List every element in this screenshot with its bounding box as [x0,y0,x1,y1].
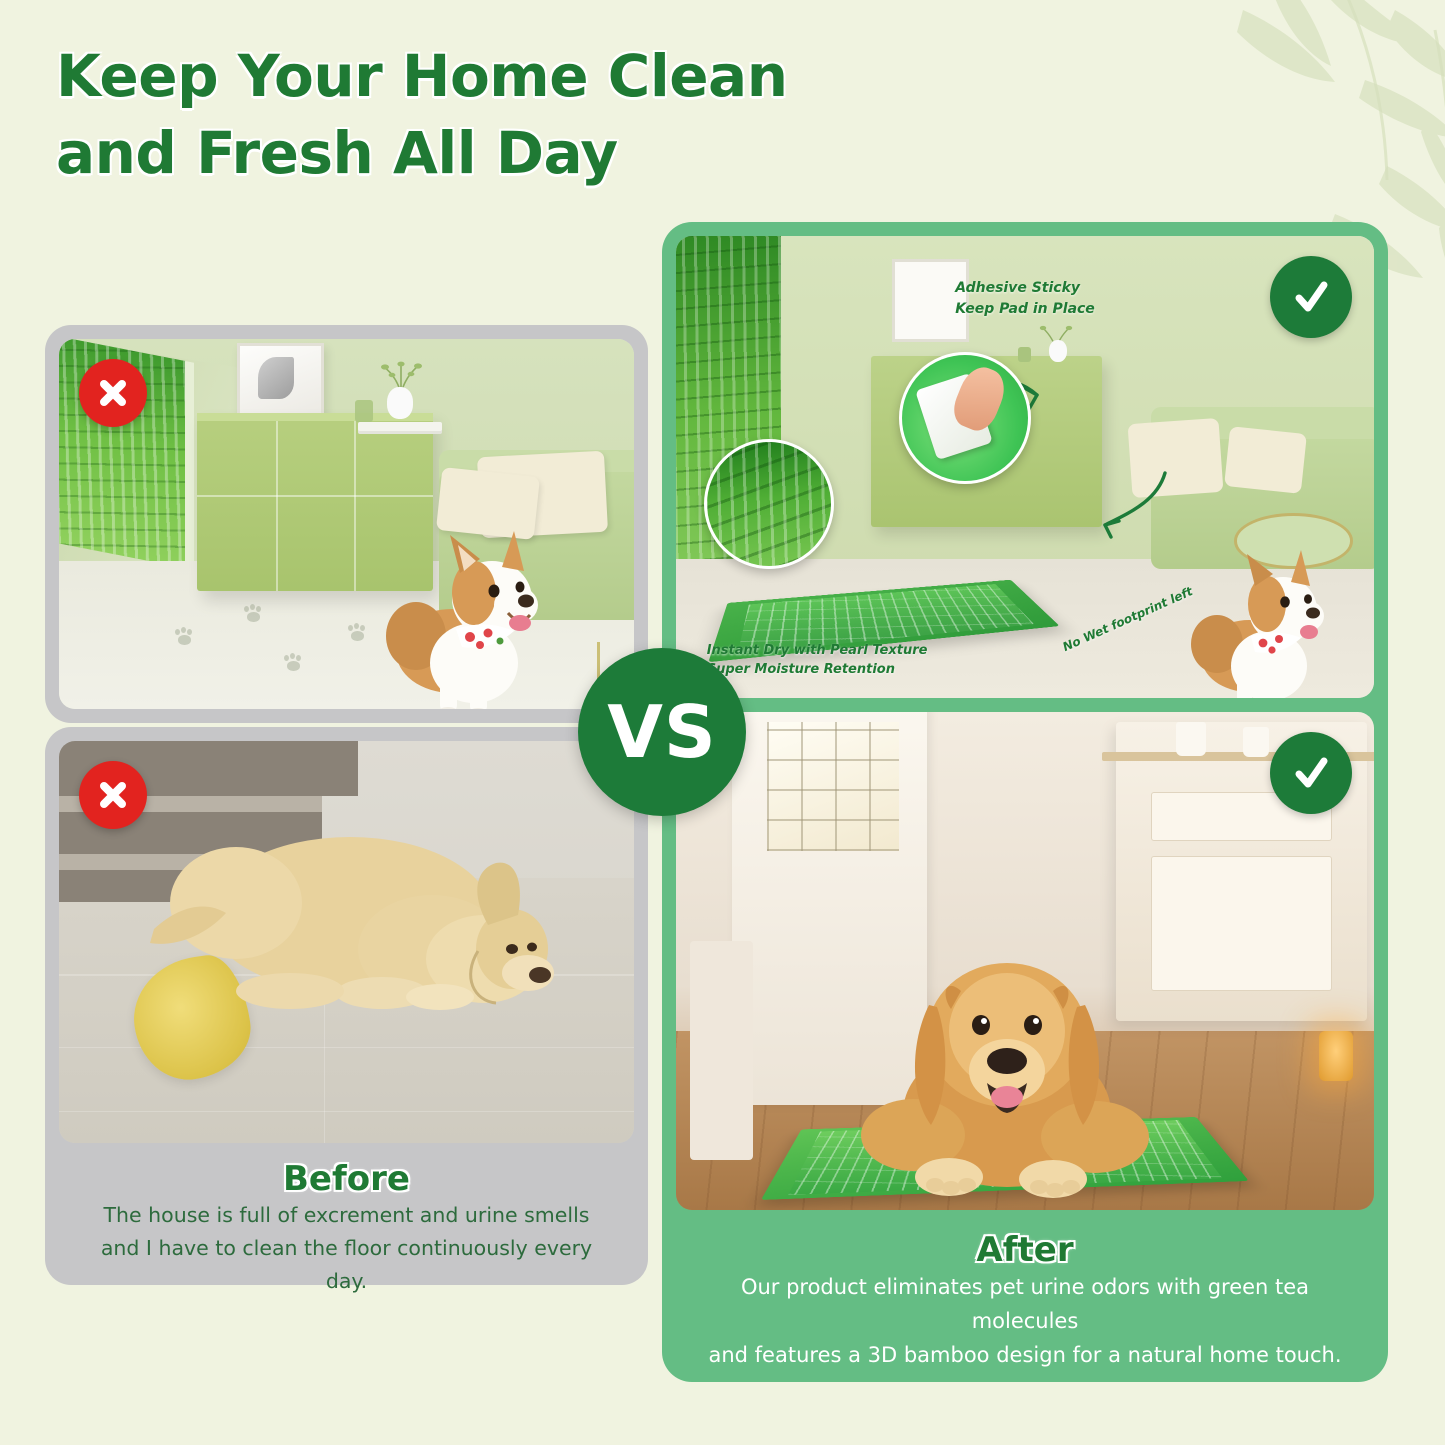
check-icon [1289,275,1333,319]
sideboard-door [1151,856,1332,990]
after-title: After [702,1230,1348,1270]
corgi-dog [1179,526,1339,698]
golden-retriever-on-pad [857,885,1157,1200]
before-bottom-panel: Before The house is full of excrement an… [45,727,648,1285]
green-cup [355,400,373,422]
check-badge [1270,256,1352,338]
before-top-panel [45,325,648,723]
check-badge [1270,732,1352,814]
paw-print [243,605,265,623]
potted-plant [1243,727,1269,757]
cross-badge [79,359,147,427]
cross-badge [79,761,147,829]
before-title: Before [77,1159,616,1199]
white-vase [1049,340,1067,362]
close-icon [96,778,130,812]
callout-adhesive: Adhesive Sticky Keep Pad in Place [955,278,1095,320]
close-icon [96,376,130,410]
stacked-books [358,422,442,431]
golden-retriever-lying [140,797,580,1027]
after-pad-illustration: Adhesive Sticky Keep Pad in Place Instan… [676,236,1374,698]
potted-plant [1176,722,1206,756]
wall-art-frame [237,343,323,417]
cushion-small [1225,426,1308,494]
after-caption-block: After Our product eliminates pet urine o… [676,1210,1374,1372]
paw-print [174,628,196,646]
infographic-page: Keep Your Home Clean and Fresh All Day [0,0,1445,1445]
after-description: Our product eliminates pet urine odors w… [702,1270,1348,1372]
before-caption-block: Before The house is full of excrement an… [59,1143,634,1299]
before-puddle-photo [59,741,634,1143]
vs-badge: VS [578,648,746,816]
cushion-large [1127,418,1223,498]
bamboo-texture-inset [704,439,834,569]
paw-print [347,624,369,642]
page-title: Keep Your Home Clean and Fresh All Day [56,38,896,191]
wall-corner [690,941,753,1160]
green-cup [1018,347,1031,362]
before-description: The house is full of excrement and urine… [77,1199,616,1299]
before-living-room-photo [59,339,634,709]
after-retriever-photo [676,712,1374,1210]
callout-instant-dry: Instant Dry with Pearl Texture Super Moi… [707,641,928,680]
adhesive-peel-inset [899,352,1031,484]
after-panel: Adhesive Sticky Keep Pad in Place Instan… [662,222,1388,1382]
check-icon [1289,751,1333,795]
entryway-scene [676,712,1374,1210]
warm-lamp [1319,1031,1353,1081]
pad-room-scene: Adhesive Sticky Keep Pad in Place Instan… [676,236,1374,698]
paw-print [283,654,305,672]
corgi-dog [374,501,559,709]
door-window [767,722,900,851]
white-vase [387,387,413,419]
